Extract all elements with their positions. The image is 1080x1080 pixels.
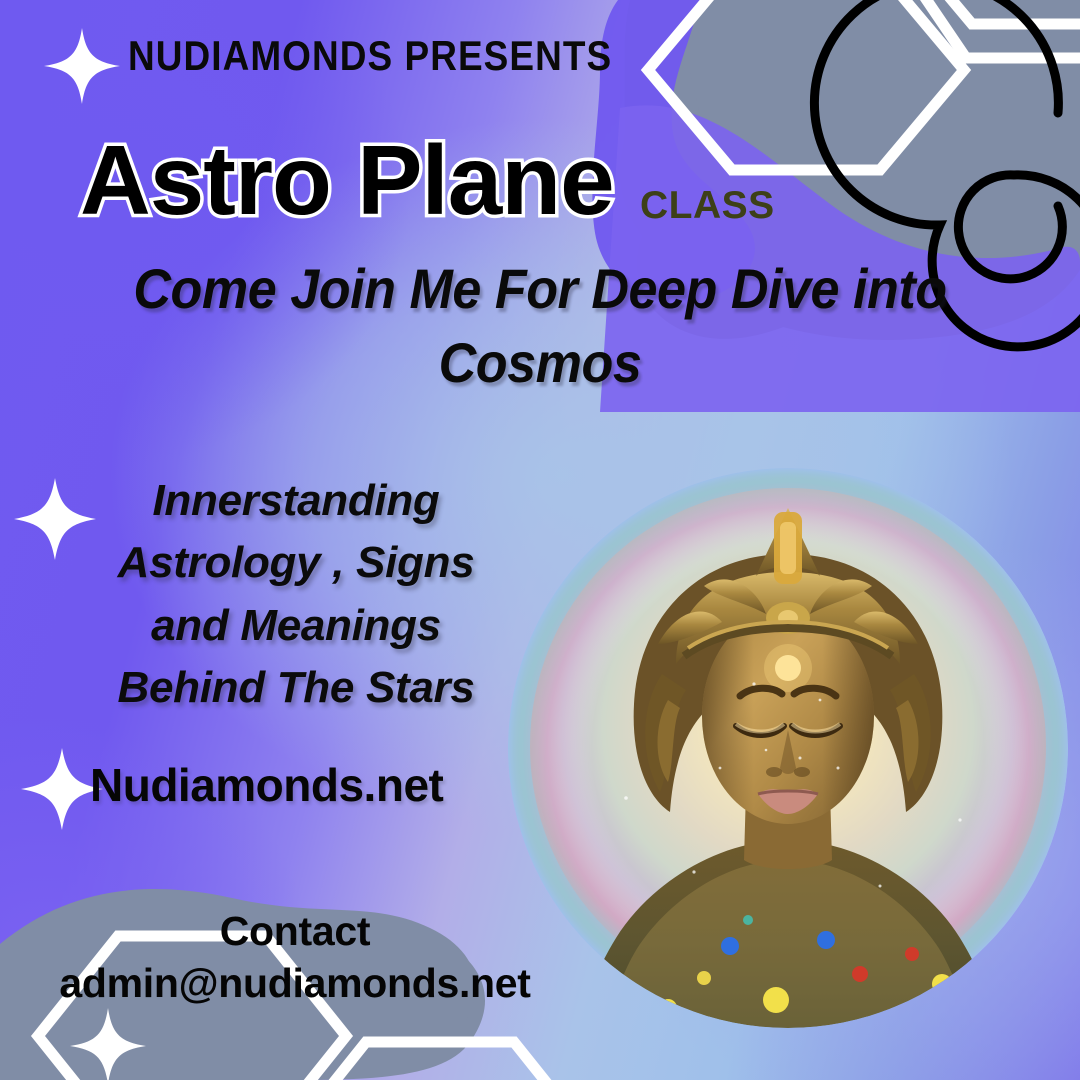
page-title: Astro Plane — [80, 124, 614, 237]
contact-label: Contact — [30, 905, 560, 957]
contact-block: Contact admin@nudiamonds.net — [30, 905, 560, 1010]
poster-canvas: NUDIAMONDS PRESENTS Astro Plane CLASS Co… — [0, 0, 1080, 1080]
brand-presents-label: NUDIAMONDS PRESENTS — [128, 32, 612, 80]
portrait-image — [508, 468, 1068, 1028]
title-suffix-label: CLASS — [640, 184, 775, 228]
subtitle-text: Come Join Me For Deep Dive into Cosmos — [94, 252, 987, 400]
contact-email[interactable]: admin@nudiamonds.net — [30, 957, 560, 1009]
website-text[interactable]: Nudiamonds.net — [90, 758, 443, 812]
body-copy-text: Innerstanding Astrology , Signs and Mean… — [86, 470, 506, 720]
